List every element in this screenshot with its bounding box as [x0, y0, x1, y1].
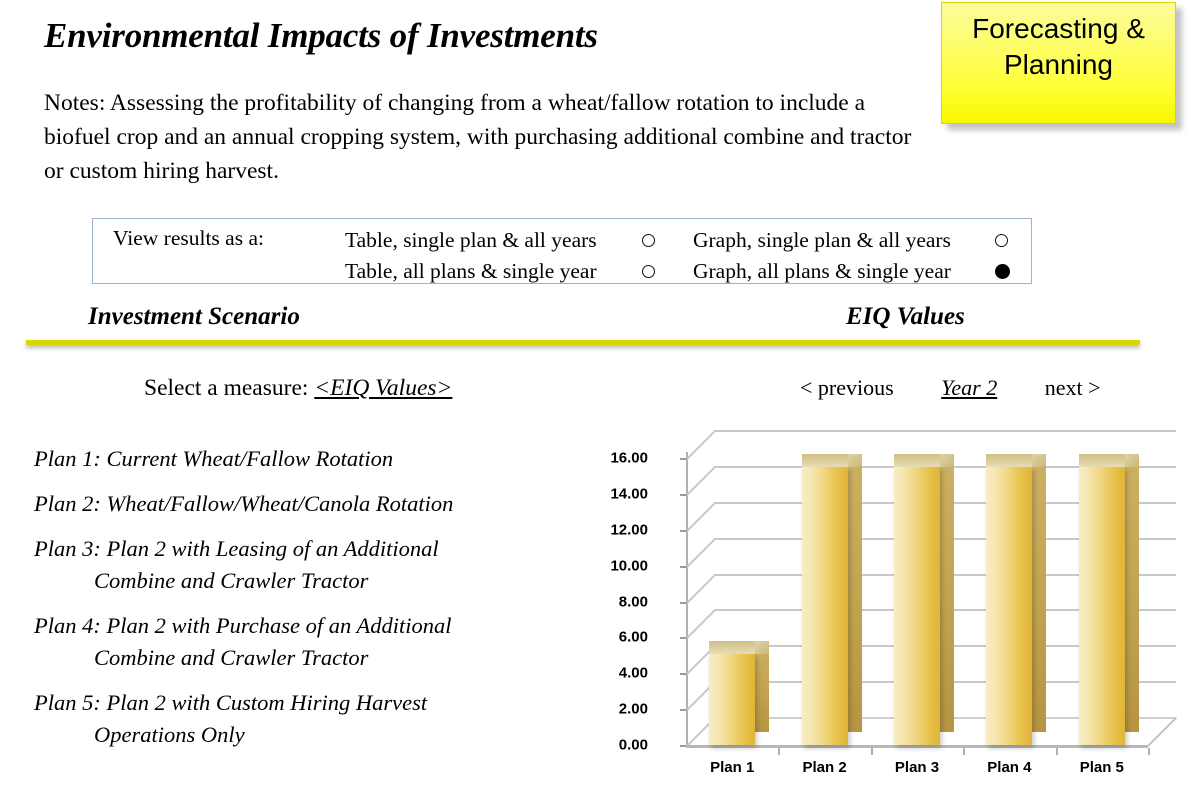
chart-x-tick	[778, 748, 780, 755]
chart-bar-top-face	[986, 454, 1032, 467]
year-navigation: < previous Year 2 next >	[800, 375, 1101, 401]
chart-bar-front-face	[802, 467, 848, 745]
section-divider-rule	[26, 340, 1140, 345]
chart-bar-top-side-face	[755, 641, 769, 654]
chart-x-tick-label: Plan 5	[1057, 759, 1147, 776]
view-option-graph-single-plan-all-years[interactable]: Graph, single plan & all years	[693, 225, 1010, 256]
measure-value-link[interactable]: <EIQ Values>	[314, 375, 452, 401]
chart-x-tick-label: Plan 3	[872, 759, 962, 776]
badge-line-1: Forecasting &	[972, 13, 1145, 44]
previous-year-button[interactable]: < previous	[800, 375, 894, 400]
plan-line-1: Plan 5: Plan 2 with Custom Hiring Harves…	[34, 690, 427, 715]
view-results-label: View results as a:	[113, 226, 264, 251]
next-year-button[interactable]: next >	[1045, 375, 1101, 400]
current-year-label[interactable]: Year 2	[941, 375, 997, 400]
view-option-table-single-plan-all-years[interactable]: Table, single plan & all years	[345, 225, 655, 256]
plan-line-2: Operations Only	[34, 719, 579, 751]
view-option-graph-all-plans-single-year[interactable]: Graph, all plans & single year	[693, 256, 1010, 287]
chart-x-tick-label: Plan 1	[687, 759, 777, 776]
chart-bar-top-side-face	[1125, 454, 1139, 467]
chart-x-tick	[963, 748, 965, 755]
list-item: Plan 1: Current Wheat/Fallow Rotation	[34, 443, 579, 475]
chart-bar-side-face	[755, 641, 769, 732]
measure-label: Select a measure:	[144, 375, 308, 401]
radio-button-table-single-plan-all-years[interactable]	[642, 234, 655, 247]
radio-button-graph-single-plan-all-years[interactable]	[995, 234, 1008, 247]
list-item: Plan 5: Plan 2 with Custom Hiring Harves…	[34, 687, 579, 751]
chart-bar-top-face	[894, 454, 940, 467]
chart-bar-side-face	[940, 454, 954, 732]
chart-bar[interactable]	[802, 425, 848, 747]
view-option-column-graph: Graph, single plan & all years Graph, al…	[693, 225, 1010, 287]
radio-button-table-all-plans-single-year[interactable]	[642, 265, 655, 278]
chart-bar-front-face	[986, 467, 1032, 745]
section-heading-eiq-values: EIQ Values	[846, 303, 965, 331]
chart-x-tick	[1056, 748, 1058, 755]
chart-bar-top-side-face	[940, 454, 954, 467]
chart-floor-right-edge	[1147, 717, 1176, 746]
chart-bar-top-face	[1079, 454, 1125, 467]
chart-bar-top-side-face	[1032, 454, 1046, 467]
plan-line-1: Plan 3: Plan 2 with Leasing of an Additi…	[34, 536, 439, 561]
badge-line-2: Planning	[1004, 49, 1113, 80]
plan-line-2: Combine and Crawler Tractor	[34, 642, 579, 674]
badge-label: Forecasting & Planning	[972, 11, 1145, 83]
plan-line-1: Plan 4: Plan 2 with Purchase of an Addit…	[34, 613, 451, 638]
chart-bar[interactable]	[986, 425, 1032, 747]
view-option-label: Graph, single plan & all years	[693, 228, 983, 253]
page-title: Environmental Impacts of Investments	[44, 16, 598, 56]
view-option-label: Graph, all plans & single year	[693, 259, 983, 284]
view-option-table-all-plans-single-year[interactable]: Table, all plans & single year	[345, 256, 655, 287]
section-heading-investment-scenario: Investment Scenario	[88, 303, 300, 331]
list-item: Plan 4: Plan 2 with Purchase of an Addit…	[34, 610, 579, 674]
chart-bar-front-face	[709, 654, 755, 745]
chart-bar[interactable]	[894, 425, 940, 747]
measure-selector-row: Select a measure: <EIQ Values>	[144, 375, 452, 402]
plan-line-1: Plan 1: Current Wheat/Fallow Rotation	[34, 446, 393, 471]
chart-x-tick-label: Plan 2	[780, 759, 870, 776]
view-option-label: Table, all plans & single year	[345, 259, 630, 284]
chart-bar-front-face	[1079, 467, 1125, 745]
chart-bar-top-side-face	[848, 454, 862, 467]
radio-button-graph-all-plans-single-year[interactable]	[995, 264, 1010, 279]
chart-bar-side-face	[1032, 454, 1046, 732]
forecasting-planning-badge: Forecasting & Planning	[941, 2, 1176, 124]
chart-bar-top-face	[802, 454, 848, 467]
chart-bar-side-face	[1125, 454, 1139, 732]
plan-list: Plan 1: Current Wheat/Fallow Rotation Pl…	[34, 443, 579, 764]
chart-x-tick	[1148, 748, 1150, 755]
list-item: Plan 3: Plan 2 with Leasing of an Additi…	[34, 533, 579, 597]
view-option-column-table: Table, single plan & all years Table, al…	[345, 225, 655, 287]
view-results-selector: View results as a: Table, single plan & …	[92, 218, 1032, 284]
chart-plot-area: Plan 1Plan 2Plan 3Plan 4Plan 5	[641, 425, 1176, 755]
view-option-label: Table, single plan & all years	[345, 228, 630, 253]
eiq-values-bar-chart: 0.002.004.006.008.0010.0012.0014.0016.00…	[596, 425, 1176, 800]
chart-bar-side-face	[848, 454, 862, 732]
chart-x-tick	[871, 748, 873, 755]
plan-line-1: Plan 2: Wheat/Fallow/Wheat/Canola Rotati…	[34, 491, 453, 516]
chart-x-tick-label: Plan 4	[964, 759, 1054, 776]
list-item: Plan 2: Wheat/Fallow/Wheat/Canola Rotati…	[34, 488, 579, 520]
notes-paragraph: Notes: Assessing the profitability of ch…	[44, 86, 924, 188]
chart-bar-top-face	[709, 641, 755, 654]
chart-bar[interactable]	[709, 425, 755, 747]
chart-bar[interactable]	[1079, 425, 1125, 747]
plan-line-2: Combine and Crawler Tractor	[34, 565, 579, 597]
chart-bar-front-face	[894, 467, 940, 745]
